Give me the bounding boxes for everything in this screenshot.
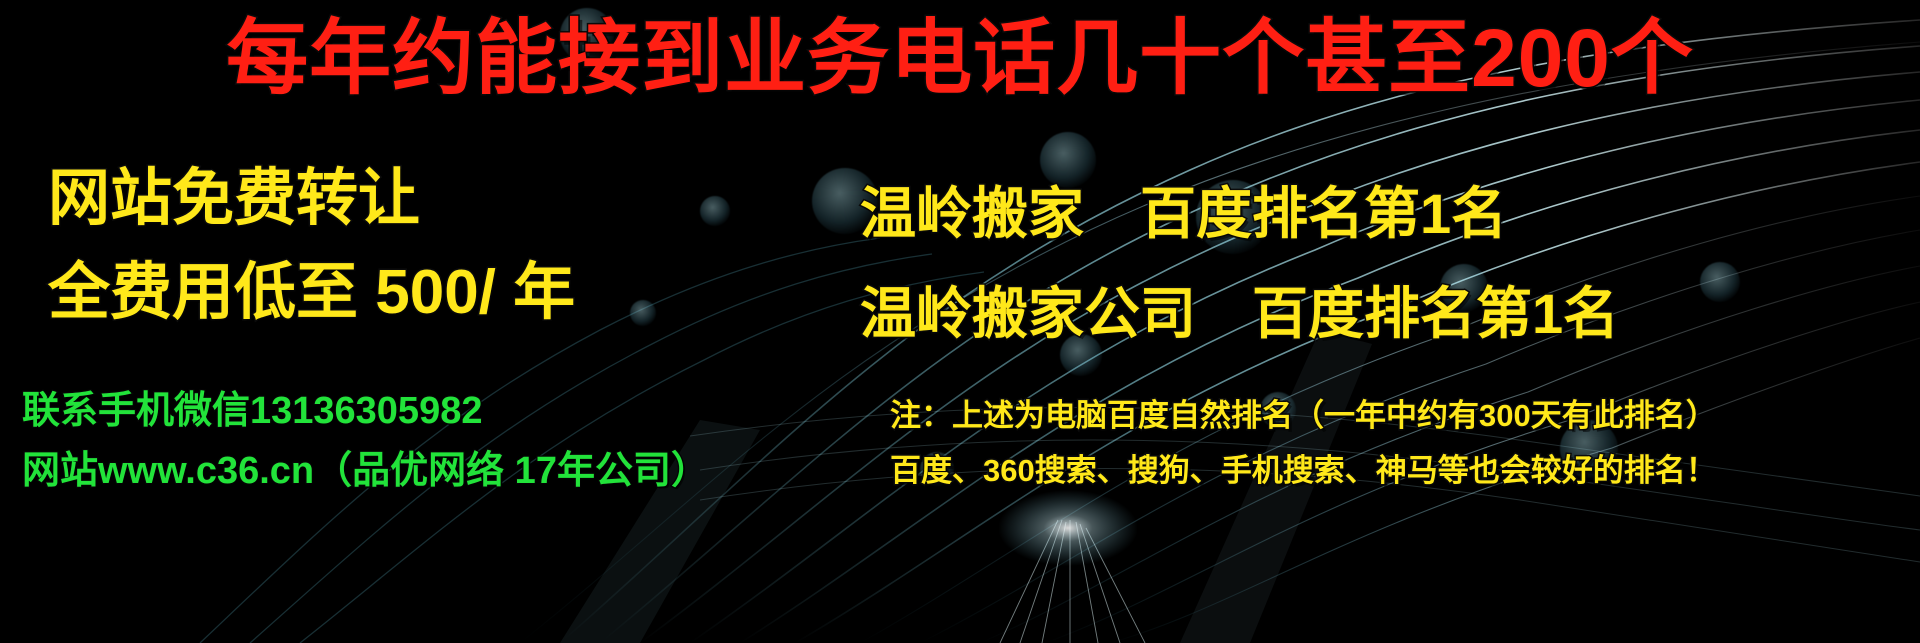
- contact-website: 网站www.c36.cn（品优网络 17年公司）: [22, 452, 709, 490]
- offer-line-1: 网站免费转让: [48, 168, 420, 230]
- offer-line-2: 全费用低至 500/ 年: [48, 262, 575, 324]
- advertisement-banner: 每年约能接到业务电话几十个甚至200个 网站免费转让 全费用低至 500/ 年 …: [0, 0, 1920, 643]
- ranking-line-2: 温岭搬家公司 百度排名第1名: [860, 286, 1619, 342]
- headline-text: 每年约能接到业务电话几十个甚至200个: [226, 18, 1694, 100]
- note-line-2: 百度、360搜索、搜狗、手机搜索、神马等也会较好的排名！: [890, 455, 1717, 486]
- contact-phone-wechat: 联系手机微信13136305982: [22, 392, 482, 430]
- note-line-1: 注：上述为电脑百度自然排名（一年中约有300天有此排名）: [890, 400, 1717, 431]
- ranking-line-1: 温岭搬家 百度排名第1名: [860, 186, 1507, 242]
